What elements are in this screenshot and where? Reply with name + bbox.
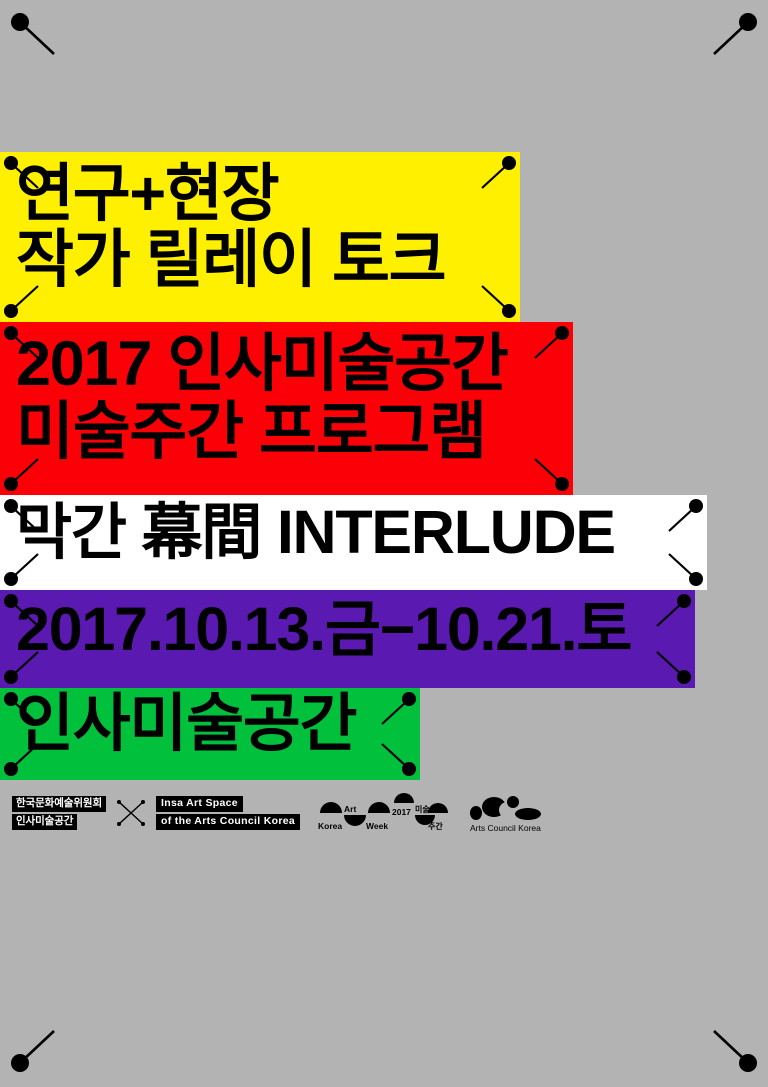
pin-mark-icon-top-left [8,10,68,70]
svg-text:Week: Week [366,821,388,831]
logo-korea-art-week-2017: Korea Art Week 2017 미술 주간 [316,791,450,835]
logo-arts-council-korea-caption: Arts Council Korea [470,823,541,833]
band-white-line-1: 막간 幕間 INTERLUDE [16,503,615,562]
band-stack: 연구+현장 작가 릴레이 토크 2017 인사미술공간 미술 [0,152,768,780]
pin-mark-icon-band-white-br [659,542,705,588]
pin-mark-icon-band-yellow-br [472,274,518,320]
logo-ias-en-line-1: Insa Art Space [156,796,243,812]
x-cross-icon [112,796,150,830]
pin-mark-icon-band-green-br [372,732,418,778]
band-white: 막간 幕間 INTERLUDE [0,495,707,590]
logo-ias-en-line-2: of the Arts Council Korea [156,814,300,830]
band-red-line-1: 2017 인사미술공간 [16,334,508,394]
logo-arts-council-korea: Arts Council Korea [468,791,548,835]
svg-text:주간: 주간 [428,821,443,831]
logo-insa-art-space-english: Insa Art Space of the Arts Council Korea [156,796,300,830]
band-yellow-line-1: 연구+현장 [16,164,278,224]
svg-text:Korea: Korea [318,821,342,831]
pin-mark-icon-band-red-tr [525,324,571,370]
pin-mark-icon-bottom-right [700,1015,760,1075]
pin-mark-icon-band-white-tr [659,497,705,543]
logo-arko-line-1: 한국문화예술위원회 [12,796,106,812]
pin-mark-icon-band-purple-br [647,640,693,686]
footer-logo-row: 한국문화예술위원회 인사미술공간 Insa Art Space of the A… [12,790,548,836]
logo-arko-insa-art-space-korean: 한국문화예술위원회 인사미술공간 [12,796,106,830]
band-green: 인사미술공간 [0,688,420,780]
pin-mark-icon-band-yellow-tr [472,154,518,200]
band-red: 2017 인사미술공간 미술주간 프로그램 [0,322,573,495]
band-purple: 2017.10.13.금−10.21.토 [0,590,695,688]
pin-mark-icon-band-green-tr [372,690,418,736]
pin-mark-icon-bottom-left [8,1015,68,1075]
svg-text:2017: 2017 [392,807,411,817]
poster-canvas: 연구+현장 작가 릴레이 토크 2017 인사미술공간 미술 [0,0,768,1087]
band-green-line-1: 인사미술공간 [16,694,356,754]
pin-mark-icon-band-purple-tr [647,592,693,638]
band-yellow-line-2: 작가 릴레이 토크 [16,230,445,290]
band-red-line-2: 미술주간 프로그램 [16,402,486,462]
pin-mark-icon-band-red-br [525,447,571,493]
band-purple-line-1: 2017.10.13.금−10.21.토 [16,600,631,659]
pin-mark-icon-top-right [700,10,760,70]
svg-text:Art: Art [344,804,356,814]
logo-arko-line-2: 인사미술공간 [12,814,77,830]
band-yellow: 연구+현장 작가 릴레이 토크 [0,152,520,322]
